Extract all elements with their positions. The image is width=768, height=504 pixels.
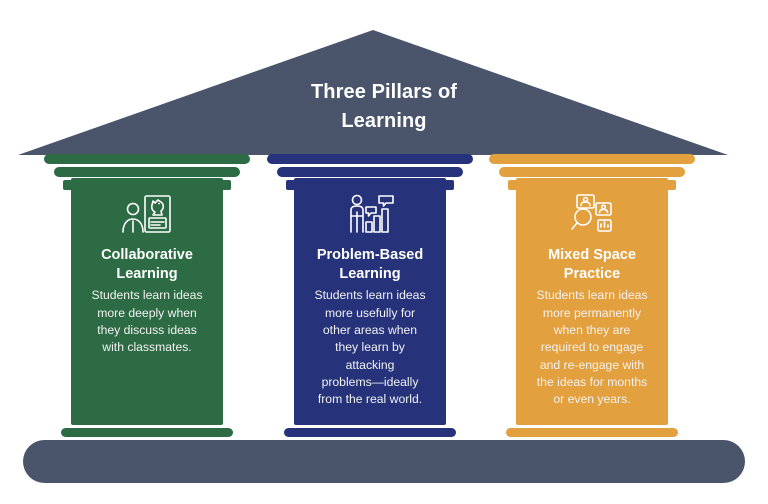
pillar-mixed-space-practice[interactable]: Mixed Space Practice Students learn idea… <box>487 150 697 440</box>
person-presentation-chess-icon <box>120 192 174 236</box>
pillar-heading-line-2: Practice <box>522 265 662 284</box>
pillar-base-bar <box>506 428 678 437</box>
pillar-heading: Problem-Based Learning <box>300 246 440 284</box>
magnifier-cards-icon <box>565 192 619 236</box>
pediment-triangle-icon <box>0 0 768 160</box>
pillar-base-bar <box>284 428 456 437</box>
pillar-description-line: or even years. <box>522 391 662 408</box>
pillar-heading-line-1: Collaborative <box>77 246 217 265</box>
pillar-description-line: Students learn ideas <box>77 287 217 304</box>
pillar-description-line: the ideas for months <box>522 374 662 391</box>
pillar-body: Collaborative Learning Students learn id… <box>71 178 223 425</box>
pillar-description-line: other areas when <box>300 322 440 339</box>
person-bar-chart-speech-icon <box>343 192 397 236</box>
pillar-heading: Collaborative Learning <box>77 246 217 284</box>
capital-bar-middle <box>277 167 463 177</box>
pillar-description-line: more deeply when <box>77 305 217 322</box>
capital-bar-top <box>489 154 695 164</box>
pillar-collaborative-learning[interactable]: Collaborative Learning Students learn id… <box>42 150 252 440</box>
pillar-description-line: they learn by <box>300 339 440 356</box>
capital-bar-middle <box>54 167 240 177</box>
pillar-problem-based-learning[interactable]: Problem-Based Learning Students learn id… <box>265 150 475 440</box>
pillar-description-line: Students learn ideas <box>522 287 662 304</box>
pillar-description-line: problems—ideally <box>300 374 440 391</box>
pillar-description-line: more permanently <box>522 305 662 322</box>
pillar-description-line: more usefully for <box>300 305 440 322</box>
pillar-heading: Mixed Space Practice <box>522 246 662 284</box>
pillar-description-line: attacking <box>300 357 440 374</box>
pillar-description: Students learn ideas more usefully for o… <box>300 287 440 408</box>
pillar-heading-line-2: Learning <box>77 265 217 284</box>
pediment: Three Pillars of Learning <box>0 0 768 160</box>
pillar-description-line: required to engage <box>522 339 662 356</box>
capital-bar-middle <box>499 167 685 177</box>
plinth-base <box>23 440 745 483</box>
pillar-base-bar <box>61 428 233 437</box>
pillar-body: Problem-Based Learning Students learn id… <box>294 178 446 425</box>
pillar-heading-line-2: Learning <box>300 265 440 284</box>
pillar-description-line: they discuss ideas <box>77 322 217 339</box>
pillar-heading-line-1: Problem-Based <box>300 246 440 265</box>
pillar-description-line: and re-engage with <box>522 357 662 374</box>
pillar-description-line: Students learn ideas <box>300 287 440 304</box>
pillar-body: Mixed Space Practice Students learn idea… <box>516 178 668 425</box>
pillar-description-line: with classmates. <box>77 339 217 356</box>
capital-bar-top <box>267 154 473 164</box>
pillar-description-line: when they are <box>522 322 662 339</box>
three-pillars-infographic: Three Pillars of Learning Collaborative <box>0 0 768 504</box>
pillar-description: Students learn ideas more permanently wh… <box>522 287 662 408</box>
pillar-description-line: from the real world. <box>300 391 440 408</box>
pillar-description: Students learn ideas more deeply when th… <box>77 287 217 356</box>
pillar-heading-line-1: Mixed Space <box>522 246 662 265</box>
capital-bar-top <box>44 154 250 164</box>
